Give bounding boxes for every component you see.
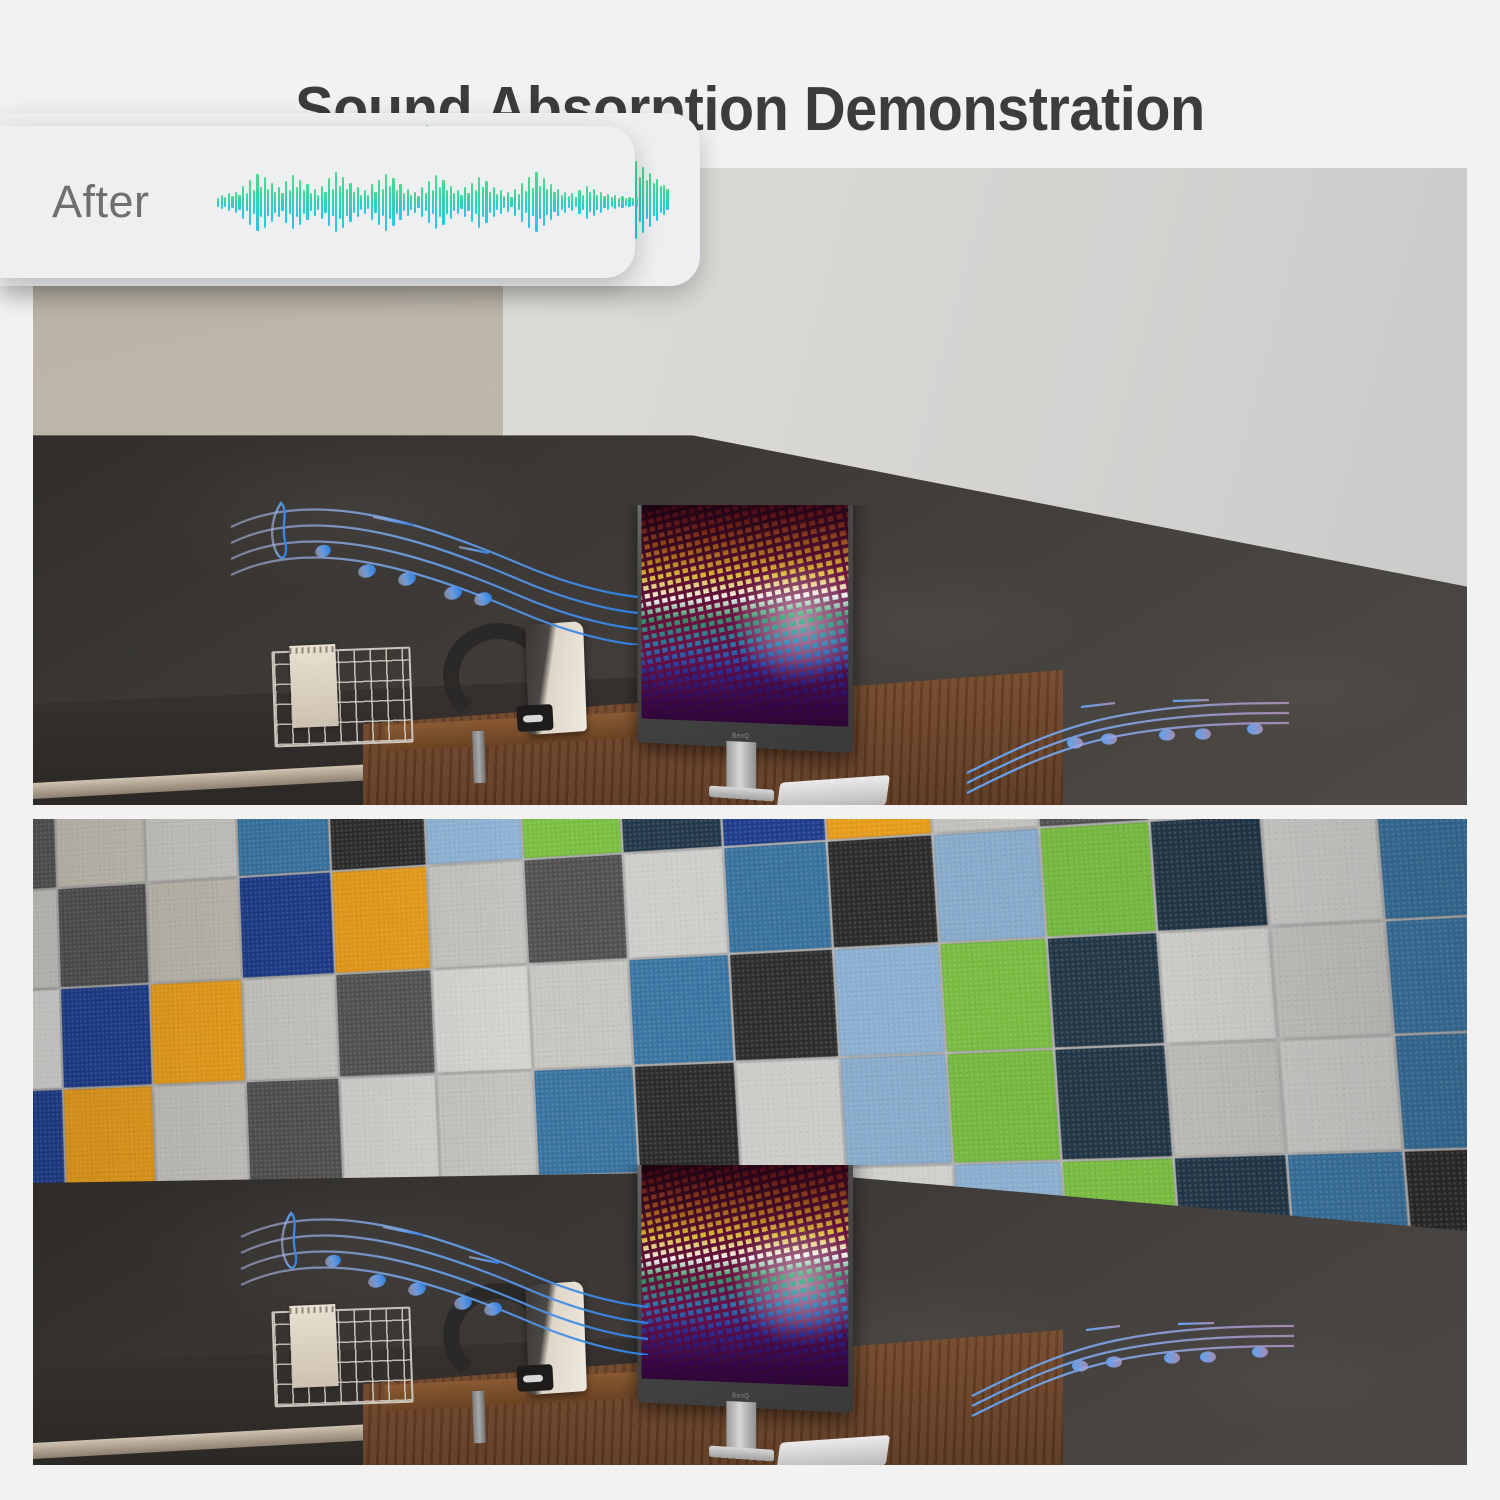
- waveform-bar: [453, 193, 455, 211]
- waveform-bar: [589, 192, 591, 212]
- acoustic-panel-tile: [1271, 922, 1392, 1038]
- waveform-bar: [467, 193, 469, 211]
- waveform-bar: [596, 195, 598, 210]
- waveform-bar: [471, 183, 473, 222]
- acoustic-panel-tile: [535, 1067, 638, 1175]
- waveform-bar: [274, 192, 276, 213]
- acoustic-panel-tile: [61, 985, 152, 1088]
- waveform-bar: [514, 189, 516, 216]
- acoustic-panel-tile: [624, 849, 728, 958]
- waveform-bar: [242, 186, 244, 219]
- monitor-screen-after: [642, 1165, 849, 1387]
- waveform-bar: [666, 189, 668, 210]
- acoustic-panel-tile: [828, 836, 937, 948]
- acoustic-panel-tile: [618, 819, 722, 853]
- waveform-bar: [428, 181, 430, 223]
- waveform-bar: [228, 193, 230, 211]
- acoustic-panel-tile: [525, 855, 627, 963]
- waveform-bar: [353, 192, 355, 213]
- acoustic-panel-tile: [1166, 1041, 1285, 1156]
- waveform-bar: [417, 196, 419, 208]
- waveform-bar: [314, 189, 316, 216]
- waveform-bar: [493, 187, 495, 217]
- waveform-bar: [435, 175, 437, 229]
- waveform-bar: [457, 190, 459, 214]
- acoustic-panel-tile: [841, 1054, 952, 1165]
- screen-vignette-top: [642, 505, 849, 574]
- waveform-bar: [339, 186, 341, 219]
- acoustic-panel-tile: [635, 1063, 740, 1172]
- acoustic-panel-tile: [236, 819, 331, 876]
- monitor-stand: [726, 741, 756, 793]
- waveform-bar: [464, 187, 466, 217]
- acoustic-panel-tile: [144, 819, 236, 882]
- waveform-bar: [656, 179, 658, 221]
- acoustic-panel-tile: [520, 819, 621, 859]
- waveform-bar: [256, 174, 258, 231]
- waveform-bar: [543, 178, 545, 226]
- acoustic-panel-tile: [423, 819, 522, 865]
- speaker-indicator: [516, 704, 553, 732]
- monitor-stand-after: [726, 1401, 756, 1453]
- waveform-bar: [278, 187, 280, 217]
- acoustic-panel-tile: [151, 980, 244, 1084]
- waveform-bar: [653, 183, 655, 216]
- waveform-bar: [646, 180, 648, 219]
- waveform-bar: [224, 197, 226, 208]
- demonstration-page: Sound Absorption Demonstration: [0, 0, 1500, 1500]
- waveform-bar: [593, 189, 595, 216]
- waveform-bar: [521, 183, 523, 222]
- acoustic-panel-tile: [1150, 819, 1268, 931]
- waveform-bar: [607, 194, 609, 211]
- waveform-bar: [249, 180, 251, 225]
- acoustic-panel-tile: [239, 873, 334, 978]
- waveform-bar: [614, 195, 616, 209]
- waveform-bar: [578, 190, 580, 214]
- waveform-bar: [285, 181, 287, 223]
- acoustic-panel-tile: [1386, 916, 1467, 1034]
- acoustic-panel-tile: [329, 819, 426, 871]
- waveform-bar: [535, 172, 537, 232]
- waveform-bar: [575, 197, 577, 208]
- riser-leg: [472, 731, 486, 783]
- waveform-bar: [303, 190, 305, 214]
- waveform-bar: [332, 189, 334, 216]
- after-waveform: [217, 126, 639, 278]
- waveform-bar: [399, 184, 401, 220]
- screen-vignette-bottom-after: [642, 1317, 849, 1386]
- waveform-bar: [503, 196, 505, 208]
- waveform-bar: [539, 186, 541, 219]
- acoustic-panel-tile: [1262, 819, 1383, 925]
- waveform-bar: [510, 197, 512, 208]
- waveform-bar: [317, 195, 319, 210]
- waveform-bar: [342, 177, 344, 228]
- waveform-bar: [603, 196, 605, 208]
- waveform-bar: [642, 167, 644, 233]
- waveform-bar: [253, 190, 255, 214]
- waveform-bar: [371, 184, 373, 220]
- waveform-bar: [600, 192, 602, 213]
- waveform-bar: [528, 177, 530, 228]
- acoustic-panel-tile: [243, 975, 339, 1080]
- waveform-bar: [568, 196, 570, 208]
- waveform-bar: [660, 186, 662, 213]
- acoustic-panel-tile: [337, 971, 435, 1077]
- waveform-bar: [561, 195, 563, 210]
- waveform-bar: [553, 192, 555, 212]
- waveform-bar: [374, 192, 376, 213]
- screen-vignette-top-after: [642, 1165, 849, 1234]
- waveform-bar: [382, 189, 384, 216]
- after-label: After: [52, 176, 217, 228]
- waveform-bar: [289, 190, 291, 214]
- waveform-bar: [496, 194, 498, 211]
- waveform-bar: [392, 178, 394, 226]
- waveform-bar: [546, 189, 548, 215]
- waveform-bar: [267, 189, 269, 216]
- waveform-bar: [425, 193, 427, 211]
- waveform-bar: [335, 172, 337, 232]
- waveform-bar: [310, 193, 312, 211]
- acoustic-panel-tile: [1158, 928, 1276, 1043]
- waveform-bar: [421, 187, 423, 217]
- screen-vignette-bottom: [642, 657, 849, 726]
- waveform-bar: [439, 187, 441, 217]
- acoustic-panel-tile: [719, 819, 825, 846]
- after-label-card: After: [0, 126, 635, 278]
- waveform-bar: [328, 178, 330, 226]
- acoustic-panel-tile: [737, 1058, 845, 1168]
- monitor-brand-logo: BenQ: [732, 733, 749, 741]
- waveform-bar: [618, 198, 620, 207]
- waveform-bar: [378, 180, 380, 225]
- acoustic-panel-tile: [940, 939, 1053, 1052]
- waveform-bar: [260, 187, 262, 217]
- waveform-bar: [238, 195, 240, 210]
- acoustic-panel-tile: [1055, 1045, 1171, 1159]
- waveform-bar: [321, 186, 323, 219]
- waveform-bar: [460, 195, 462, 209]
- waveform-bar: [632, 198, 634, 206]
- acoustic-panel-tile: [834, 945, 944, 1056]
- acoustic-panel-tile: [33, 890, 58, 992]
- waveform-bar: [442, 180, 444, 225]
- waveform-bar: [389, 186, 391, 219]
- waveform-bar: [625, 198, 627, 206]
- acoustic-panel-tile: [333, 867, 430, 973]
- waveform-bar: [357, 187, 359, 217]
- waveform-bar: [360, 195, 362, 210]
- acoustic-panel-tile: [947, 1050, 1060, 1162]
- waveform-bar: [296, 187, 298, 217]
- before-room-floor-area: BenQ: [33, 505, 1467, 805]
- curved-monitor-after: BenQ: [638, 1165, 853, 1413]
- acoustic-panel-tile: [33, 990, 61, 1092]
- monitor-brand-logo-after: BenQ: [732, 1393, 749, 1401]
- waveform-bar: [414, 192, 416, 213]
- waveform-bar: [507, 192, 509, 212]
- waveform-bar: [586, 186, 588, 219]
- acoustic-panel-tile: [1279, 1036, 1401, 1152]
- acoustic-panel-tile: [1048, 933, 1163, 1047]
- waveform-bar: [231, 196, 233, 208]
- waveform-bar: [246, 193, 248, 211]
- waveform-bar: [518, 194, 520, 211]
- riser-leg-after: [472, 1391, 486, 1443]
- acoustic-panel-tile: [58, 884, 149, 987]
- waveform-bar: [432, 190, 434, 214]
- acoustic-panel-tile: [731, 950, 838, 1060]
- waveform-bar: [571, 193, 573, 211]
- notepad: [289, 644, 339, 728]
- waveform-bar: [450, 186, 452, 219]
- waveform-bar: [489, 192, 491, 213]
- acoustic-panel-tile: [530, 960, 632, 1068]
- waveform-bar: [475, 190, 477, 214]
- acoustic-panel-tile: [55, 819, 145, 888]
- after-photo: BenQ: [33, 819, 1467, 1465]
- waveform-bar: [306, 184, 308, 220]
- curved-monitor: BenQ: [638, 505, 853, 753]
- waveform-bar: [324, 192, 326, 213]
- waveform-bar: [611, 197, 613, 208]
- waveform-bar: [446, 190, 448, 214]
- acoustic-panel-tile: [933, 829, 1045, 942]
- notepad-after: [289, 1304, 339, 1388]
- acoustic-panel-tile: [33, 819, 56, 893]
- acoustic-panel-tile: [629, 955, 734, 1064]
- waveform-bar: [532, 188, 534, 217]
- acoustic-panel-tile: [437, 1071, 538, 1178]
- waveform-bar: [649, 173, 651, 227]
- waveform-bar: [264, 177, 266, 228]
- waveform-bar: [478, 177, 480, 228]
- monitor-screen: [642, 505, 849, 727]
- waveform-bar: [636, 198, 638, 207]
- speaker-indicator-after: [516, 1364, 553, 1392]
- waveform-bar: [299, 180, 301, 225]
- waveform-bar: [292, 175, 294, 229]
- waveform-bar: [410, 195, 412, 210]
- waveform-bar: [221, 195, 223, 209]
- waveform-bar: [663, 185, 665, 215]
- waveform-bar: [621, 196, 623, 208]
- after-room-lower: BenQ: [33, 1165, 1467, 1465]
- waveform-bar: [349, 183, 351, 222]
- waveform-bar: [628, 197, 630, 208]
- waveform-bar: [396, 190, 398, 214]
- waveform-bar: [403, 193, 405, 211]
- waveform-bar: [557, 189, 559, 216]
- waveform-bar: [281, 193, 283, 211]
- waveform-bar: [367, 195, 369, 209]
- acoustic-panel-tile: [428, 861, 528, 968]
- waveform-bar: [485, 181, 487, 223]
- acoustic-panel-tile: [1395, 1031, 1467, 1148]
- waveform-bar: [364, 190, 366, 214]
- acoustic-panel-tile: [432, 966, 532, 1073]
- waveform-bar: [482, 187, 484, 217]
- waveform-bar: [407, 189, 409, 216]
- acoustic-panel-tile: [1377, 819, 1467, 919]
- waveform-bar: [582, 195, 584, 210]
- waveform-bar: [564, 192, 566, 213]
- waveform-bar: [385, 174, 387, 231]
- acoustic-panel-tile: [1041, 823, 1156, 937]
- waveform-bar: [235, 192, 237, 213]
- acoustic-panel-tile: [148, 879, 241, 983]
- waveform-bar: [217, 198, 219, 207]
- waveform-bar: [500, 190, 502, 214]
- waveform-bar: [271, 183, 273, 222]
- waveform-bar: [525, 191, 527, 214]
- waveform-bar: [550, 184, 552, 220]
- acoustic-panel-tile: [725, 842, 832, 952]
- waveform-bar: [346, 189, 348, 216]
